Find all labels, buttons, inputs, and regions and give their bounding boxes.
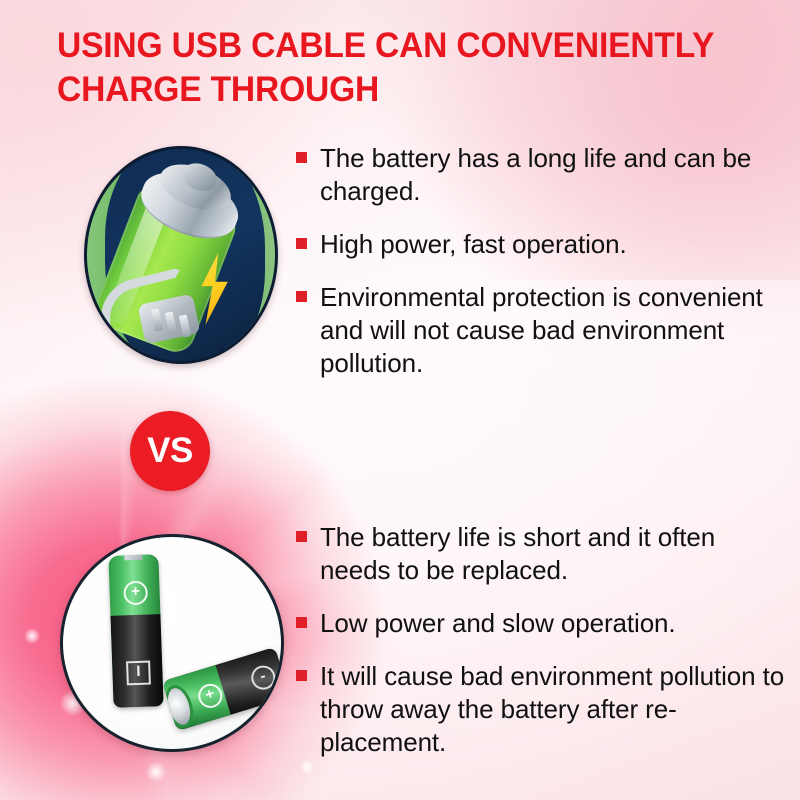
square-bullet-icon	[296, 617, 307, 628]
list-item: Environmental protection is convenient a…	[296, 281, 786, 380]
bar-symbol-icon: I	[126, 661, 151, 686]
rechargeable-benefits-list: The battery has a long life and can be c…	[296, 142, 786, 400]
minus-symbol-icon: -	[248, 663, 278, 693]
list-item-label: Environmental protection is convenient a…	[320, 281, 786, 380]
square-bullet-icon	[296, 238, 307, 249]
sparkle-icon	[146, 762, 166, 782]
page-title: USING USB CABLE CAN CONVENIENTLY CHARGE …	[57, 24, 739, 112]
list-item: The battery life is short and it often n…	[296, 521, 786, 587]
product-comparison-infographic: USING USB CABLE CAN CONVENIENTLY CHARGE …	[0, 0, 800, 800]
battery-positive-tip	[124, 554, 142, 560]
disposable-aa-batteries-photo: + I + -	[60, 534, 284, 752]
list-item-label: High power, fast operation.	[320, 228, 627, 261]
list-item: The battery has a long life and can be c…	[296, 142, 786, 208]
square-bullet-icon	[296, 670, 307, 681]
square-bullet-icon	[296, 531, 307, 542]
list-item-label: The battery has a long life and can be c…	[320, 142, 786, 208]
square-bullet-icon	[296, 291, 307, 302]
rechargeable-battery-with-plug-icon	[84, 146, 278, 364]
list-item-label: It will cause bad environment pollution …	[320, 660, 786, 759]
battery-upright: + I	[108, 554, 163, 708]
list-item-label: The battery life is short and it often n…	[320, 521, 786, 587]
plus-symbol-icon: +	[123, 581, 148, 606]
sparkle-icon	[24, 628, 40, 644]
disposable-drawbacks-list: The battery life is short and it often n…	[296, 521, 786, 779]
list-item: High power, fast operation.	[296, 228, 786, 261]
list-item: Low power and slow operation.	[296, 607, 786, 640]
square-bullet-icon	[296, 152, 307, 163]
list-item-label: Low power and slow operation.	[320, 607, 676, 640]
vs-badge: VS	[130, 411, 210, 491]
list-item: It will cause bad environment pollution …	[296, 660, 786, 759]
